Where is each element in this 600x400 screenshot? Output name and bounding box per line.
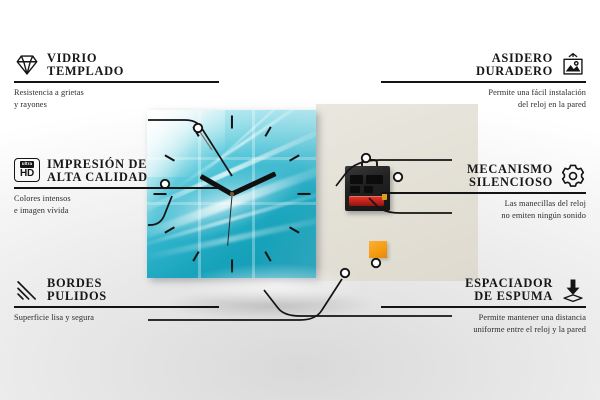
feature-title: ASIDERO DURADERO bbox=[476, 52, 553, 78]
hour-marker bbox=[289, 154, 299, 161]
mechanism-slot bbox=[350, 186, 360, 193]
hour-marker bbox=[297, 193, 310, 195]
feature-description-line2: del reloj en la pared bbox=[381, 99, 586, 111]
feature-description-line1: Las manecillas del reloj bbox=[381, 198, 586, 210]
feature-divider bbox=[381, 192, 586, 194]
feature-asidero-duradero: ASIDERO DURADERO Permite una fácil insta… bbox=[381, 52, 586, 110]
feature-description-line1: Colores intensos bbox=[14, 193, 219, 205]
feature-title: MECANISMO SILENCIOSO bbox=[467, 163, 553, 189]
feature-description-line1: Permite mantener una distancia bbox=[381, 312, 586, 324]
feature-description: Permite una fácil instalación del reloj … bbox=[381, 87, 586, 111]
hour-marker bbox=[192, 126, 199, 136]
diagonal-lines-icon bbox=[14, 277, 40, 303]
hour-marker bbox=[164, 226, 174, 233]
hour-marker bbox=[264, 126, 271, 136]
arrow-down-layers-icon bbox=[560, 277, 586, 303]
mechanism-slot bbox=[350, 175, 363, 184]
feature-description-line2: e imagen vívida bbox=[14, 205, 219, 217]
hd-badge-main-label: HD bbox=[20, 169, 34, 179]
infographic-canvas: VIDRIO TEMPLADO Resistencia a grietas y … bbox=[0, 0, 600, 400]
feature-description-line1: Resistencia a grietas bbox=[14, 87, 219, 99]
feature-espaciador-de-espuma: ESPACIADOR DE ESPUMA Permite mantener un… bbox=[381, 277, 586, 335]
feature-title: BORDES PULIDOS bbox=[47, 277, 107, 303]
feature-divider bbox=[14, 81, 219, 83]
feature-description: Colores intensos e imagen vívida bbox=[14, 193, 219, 217]
feature-description: Las manecillas del reloj no emiten ningú… bbox=[381, 198, 586, 222]
feature-description-line1: Permite una fácil instalación bbox=[381, 87, 586, 99]
feature-description-line2: no emiten ningún sonido bbox=[381, 210, 586, 222]
feature-title: VIDRIO TEMPLADO bbox=[47, 52, 124, 78]
feature-title: IMPRESIÓN DE ALTA CALIDAD bbox=[47, 158, 148, 184]
hand-hub bbox=[230, 192, 234, 196]
feature-description-line1: Superficie lisa y segura bbox=[14, 312, 219, 324]
diamond-icon bbox=[14, 52, 40, 78]
feature-vidrio-templado: VIDRIO TEMPLADO Resistencia a grietas y … bbox=[14, 52, 219, 110]
feature-divider bbox=[14, 306, 219, 308]
feature-title-line2: ALTA CALIDAD bbox=[47, 171, 148, 184]
feature-title-line2: DURADERO bbox=[476, 65, 553, 78]
feature-title-line2: DE ESPUMA bbox=[465, 290, 553, 303]
feature-divider bbox=[14, 187, 219, 189]
hanging-picture-icon bbox=[560, 52, 586, 78]
feature-title-line2: TEMPLADO bbox=[47, 65, 124, 78]
ultra-hd-icon: ultra HD bbox=[14, 158, 40, 184]
feature-divider bbox=[381, 306, 586, 308]
feature-description: Superficie lisa y segura bbox=[14, 312, 219, 324]
battery bbox=[349, 196, 384, 206]
feature-title-line2: SILENCIOSO bbox=[467, 176, 553, 189]
feature-title-line2: PULIDOS bbox=[47, 290, 107, 303]
feature-description: Resistencia a grietas y rayones bbox=[14, 87, 219, 111]
feature-title: ESPACIADOR DE ESPUMA bbox=[465, 277, 553, 303]
mechanism-slot bbox=[364, 186, 373, 193]
hour-marker bbox=[230, 116, 232, 129]
feature-description-line2: uniforme entre el reloj y la pared bbox=[381, 324, 586, 336]
hour-marker bbox=[289, 226, 299, 233]
feature-mecanismo-silencioso: MECANISMO SILENCIOSO Las manecillas del … bbox=[381, 163, 586, 221]
feature-impresion-alta-calidad: ultra HD IMPRESIÓN DE ALTA CALIDAD Color… bbox=[14, 158, 219, 216]
feature-divider bbox=[381, 81, 586, 83]
gear-icon bbox=[560, 163, 586, 189]
feature-description-line2: y rayones bbox=[14, 99, 219, 111]
feature-bordes-pulidos: BORDES PULIDOS Superficie lisa y segura bbox=[14, 277, 219, 324]
feature-description: Permite mantener una distancia uniforme … bbox=[381, 312, 586, 336]
